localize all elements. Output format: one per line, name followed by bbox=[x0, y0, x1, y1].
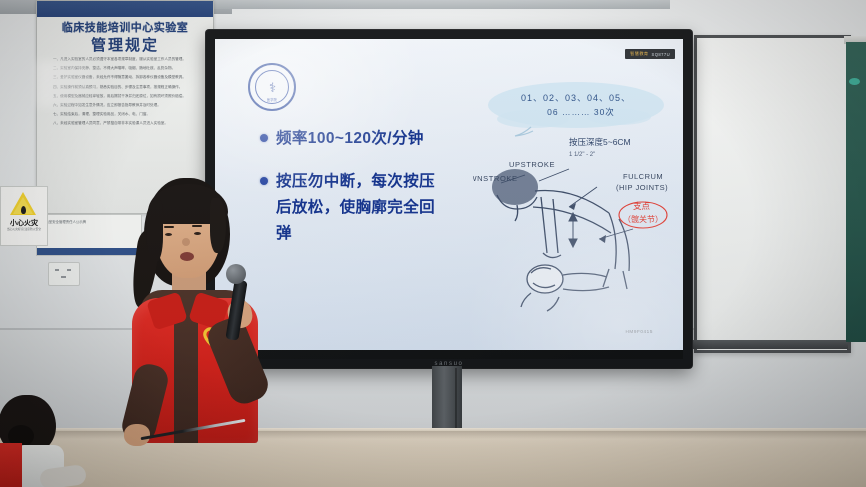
label-fulcrum-en-1: FULCRUM bbox=[623, 172, 663, 181]
poster-heading-secondary: 管理规定 bbox=[37, 34, 213, 55]
presenter-brow-right bbox=[192, 225, 202, 227]
display-corner-badge: 智慧教育 SQ877U bbox=[625, 49, 675, 59]
power-outlet bbox=[48, 262, 80, 286]
badge-secondary-text: SQ877U bbox=[652, 52, 670, 57]
display-power-cable bbox=[455, 368, 457, 430]
poster-paragraph: 八、未经实验室管理人员同意，严禁擅自带非本实验课人员进入实验室。 bbox=[46, 121, 205, 126]
speech-bubble-line1: 01、02、03、04、05、 bbox=[521, 93, 631, 103]
whiteboard-marker-tray bbox=[692, 340, 848, 349]
microphone-head-icon bbox=[226, 264, 246, 284]
label-upstroke: UPSTROKE bbox=[509, 160, 555, 169]
presenter-person bbox=[110, 178, 300, 448]
label-depth-en: 1 1/2" - 2" bbox=[569, 152, 595, 158]
presenter-left-hand bbox=[124, 424, 150, 446]
poster-glare bbox=[37, 61, 97, 107]
fire-warning-sign: 小心火灾 当心火灾标识 注意防火安全 bbox=[0, 186, 48, 246]
screen-glare-top-left bbox=[215, 39, 425, 199]
whiteboard bbox=[694, 35, 851, 353]
badge-primary-text: 智慧教育 bbox=[630, 51, 648, 57]
poster-paragraph: 七、实验结束后，清理、整理实验用品，关闭水、电、门窗。 bbox=[46, 112, 205, 117]
speech-bubble-line2: 06 ……… 30次 bbox=[547, 107, 615, 117]
presenter-eye-left bbox=[165, 233, 172, 236]
presenter-hair-side-left bbox=[146, 200, 163, 262]
display-stand-neck bbox=[432, 366, 462, 432]
classroom-photo: 临床技能培训中心实验室 管理规定 一、凡进入实验室的人员必须遵守本室各项规章制度… bbox=[0, 0, 866, 487]
audience-red-vest bbox=[0, 443, 22, 487]
label-depth-cn: 按压深度5~6CM bbox=[569, 137, 631, 147]
label-downstroke: DOWNSTROKE bbox=[473, 174, 518, 183]
presenter-nose bbox=[182, 238, 190, 246]
chalkboard-sticker bbox=[849, 78, 860, 85]
presenter-mouth bbox=[180, 252, 194, 261]
presenter-brow-left bbox=[164, 226, 174, 228]
presenter-eye-right bbox=[194, 232, 201, 235]
poster-heading-primary: 临床技能培训中心实验室 bbox=[37, 19, 213, 35]
ceiling-strip-secondary bbox=[210, 0, 670, 9]
screen-glare-bottom-right bbox=[463, 190, 683, 350]
green-chalkboard bbox=[846, 42, 866, 342]
fire-warning-sublabel: 当心火灾标识 注意防火安全 bbox=[4, 228, 44, 232]
presenter-hair-side-right bbox=[210, 198, 226, 253]
poster-banner bbox=[37, 1, 213, 17]
audience-person bbox=[0, 395, 110, 487]
flame-icon bbox=[21, 206, 26, 214]
